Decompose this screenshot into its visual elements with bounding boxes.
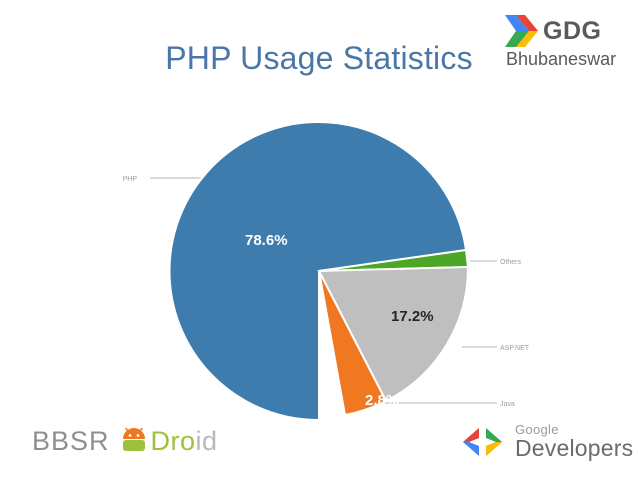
bbsr-logo-text: BBSR — [32, 428, 110, 455]
pie-chart: 78.6% 17.2% 2.8% PHP Others ASP.NET Java — [0, 95, 638, 425]
droid-logo-text: Droid — [151, 428, 218, 455]
gdg-logo-city: Bhubaneswar — [506, 50, 616, 68]
pie-category-label-java: Java — [500, 401, 515, 408]
gdg-logo-row: GDG — [503, 14, 601, 48]
pie-value-java: 2.8% — [365, 392, 399, 409]
google-developers-wordmark: Google Developers — [515, 423, 633, 460]
angle-brackets-icon — [462, 426, 508, 458]
pie-category-label-others: Others — [500, 259, 522, 266]
pie-value-php: 78.6% — [245, 232, 288, 249]
slide-canvas: PHP Usage Statistics GDG Bhubaneswar — [0, 0, 638, 479]
droid-logo-text-colored: Dro — [151, 426, 196, 456]
gdg-chevron-icon — [503, 14, 539, 48]
pie-category-label-aspnet: ASP.NET — [500, 345, 530, 352]
pie-category-label-php: PHP — [123, 176, 138, 183]
gdg-logo-name: GDG — [543, 19, 601, 44]
gdg-logo: GDG Bhubaneswar — [503, 14, 629, 76]
android-head-icon — [119, 426, 149, 456]
google-developers-logo: Google Developers — [462, 424, 633, 460]
bbsr-droid-logo: BBSR Droid — [32, 424, 218, 458]
pie-chart-svg: 78.6% 17.2% 2.8% PHP Others ASP.NET Java — [0, 95, 638, 425]
pie-value-aspnet: 17.2% — [391, 308, 434, 325]
droid-logo-text-dim: id — [196, 426, 218, 456]
developers-word: Developers — [515, 436, 633, 460]
